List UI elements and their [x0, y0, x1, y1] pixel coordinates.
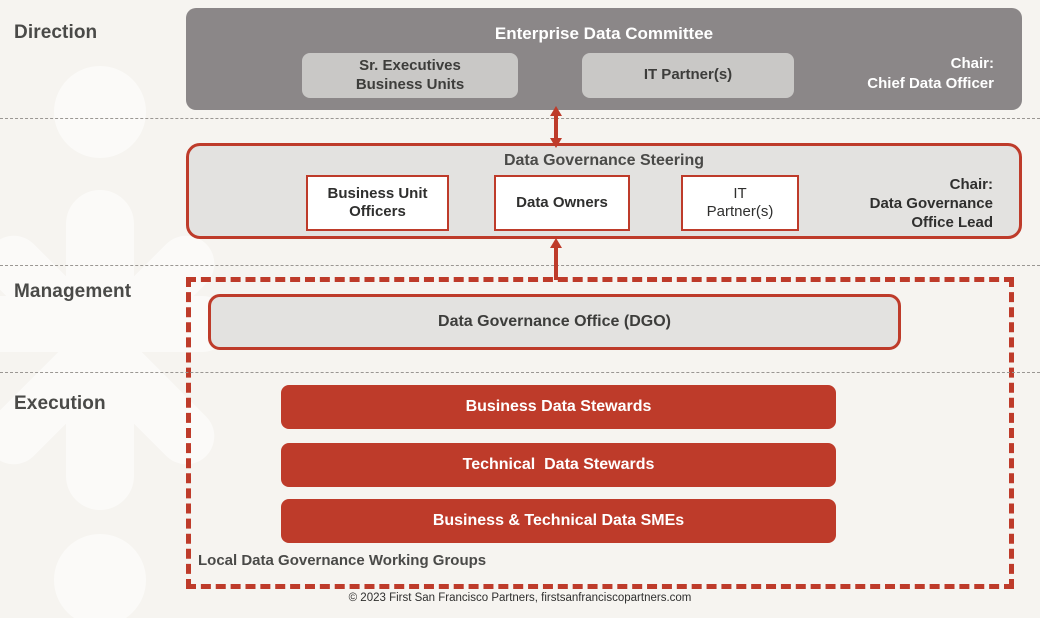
steering-chair-label: Chair: Data Governance Office Lead: [763, 175, 993, 233]
arrow-up-icon: [546, 238, 566, 280]
execution-role-label: Technical Data Stewards: [463, 456, 655, 474]
committee-member-sr-executives: Sr. Executives Business Units: [302, 53, 518, 98]
working-groups-caption: Local Data Governance Working Groups: [196, 552, 490, 569]
execution-role-technical-data-stewards: Technical Data Stewards: [281, 443, 836, 487]
execution-role-business-data-stewards: Business Data Stewards: [281, 385, 836, 429]
committee-member-label: IT Partner(s): [644, 66, 732, 84]
committee-member-label: Sr. Executives Business Units: [356, 57, 464, 94]
band-separator-1: [0, 118, 1040, 119]
band-label-management: Management: [14, 281, 131, 303]
data-governance-steering-panel: Data Governance Steering Business Unit O…: [186, 143, 1022, 239]
steering-member-label: Business Unit Officers: [327, 185, 427, 221]
execution-role-label: Business & Technical Data SMEs: [433, 512, 684, 530]
steering-member-data-owners: Data Owners: [494, 175, 630, 231]
committee-chair-label: Chair: Chief Data Officer: [764, 54, 994, 93]
execution-role-label: Business Data Stewards: [466, 398, 652, 416]
band-label-direction: Direction: [14, 22, 97, 44]
steering-member-business-unit-officers: Business Unit Officers: [306, 175, 449, 231]
diagram-canvas: Direction Management Execution Enterpris…: [0, 0, 1040, 618]
band-label-execution: Execution: [14, 393, 106, 415]
committee-member-it-partners: IT Partner(s): [582, 53, 794, 98]
steering-title: Data Governance Steering: [189, 152, 1019, 170]
data-governance-office-box: Data Governance Office (DGO): [208, 294, 901, 350]
copyright-footer: © 2023 First San Francisco Partners, fir…: [0, 592, 1040, 604]
band-separator-3: [0, 372, 1040, 373]
committee-title: Enterprise Data Committee: [186, 24, 1022, 44]
enterprise-data-committee-panel: Enterprise Data Committee Sr. Executives…: [186, 8, 1022, 110]
steering-member-label: Data Owners: [516, 194, 608, 212]
dgo-label: Data Governance Office (DGO): [438, 313, 671, 331]
double-arrow-vertical-icon: [546, 106, 566, 148]
execution-role-business-technical-data-smes: Business & Technical Data SMEs: [281, 499, 836, 543]
band-separator-2: [0, 265, 1040, 266]
